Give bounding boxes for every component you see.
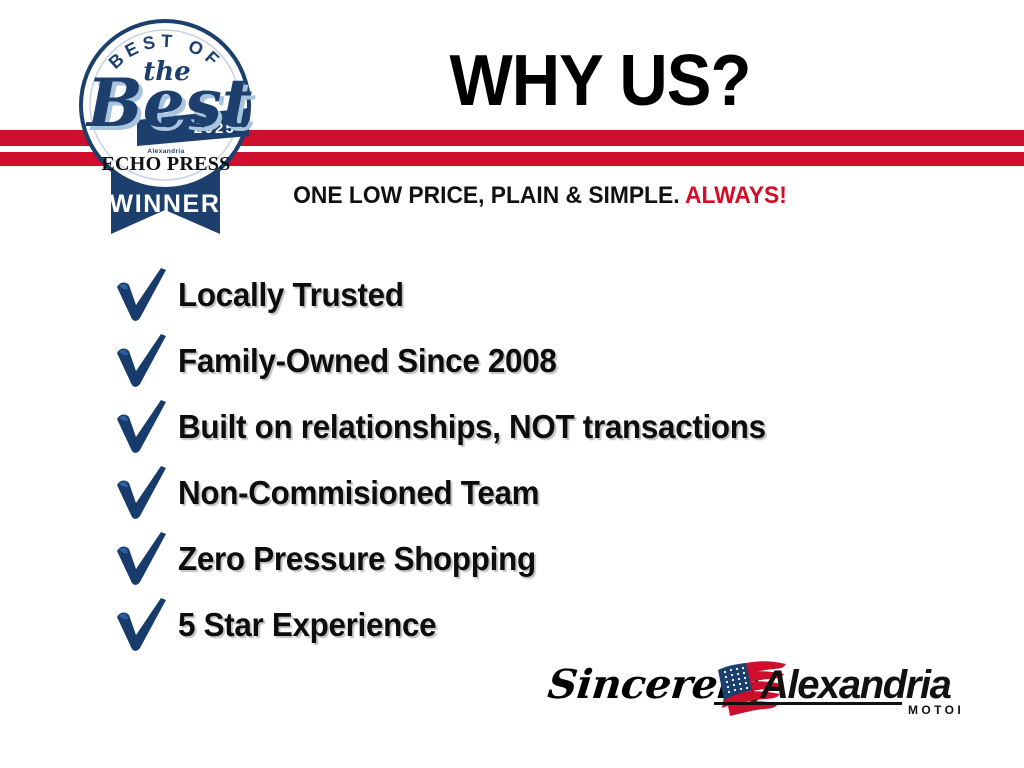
checkmark-icon bbox=[106, 595, 178, 655]
badge-publisher: ECHO PRESS bbox=[101, 153, 230, 175]
subtitle-accent: ALWAYS! bbox=[685, 182, 787, 209]
subtitle-main: ONE LOW PRICE, PLAIN & SIMPLE. bbox=[293, 182, 679, 209]
best-of-the-best-badge: WINNER BEST OF the 2025 Best Best Alexan… bbox=[63, 12, 268, 234]
list-item: Built on relationships, NOT transactions bbox=[106, 394, 1006, 460]
page-title: WHY US? bbox=[302, 44, 897, 118]
svg-text:WINNER: WINNER bbox=[110, 190, 221, 218]
checkmark-icon bbox=[106, 463, 178, 523]
page-subtitle: ONE LOW PRICE, PLAIN & SIMPLE. ALWAYS! bbox=[217, 182, 863, 210]
checkmark-icon bbox=[106, 397, 178, 457]
logo-wordmark: Alexandria bbox=[759, 663, 952, 707]
list-item: Locally Trusted bbox=[106, 262, 1006, 328]
benefits-list: Locally Trusted Family-Owned Since 2008 … bbox=[106, 262, 1006, 658]
checkmark-icon bbox=[106, 331, 178, 391]
list-item: Family-Owned Since 2008 bbox=[106, 328, 1006, 394]
list-item-label: Non-Commisioned Team bbox=[178, 475, 539, 511]
list-item: Zero Pressure Shopping bbox=[106, 526, 1006, 592]
list-item-label: Built on relationships, NOT transactions bbox=[178, 409, 766, 445]
list-item-label: 5 Star Experience bbox=[178, 607, 436, 643]
list-item: 5 Star Experience bbox=[106, 592, 1006, 658]
badge-script-best: Best bbox=[85, 64, 252, 142]
logo-subtext: MOTORS bbox=[908, 703, 960, 717]
list-item: Non-Commisioned Team bbox=[106, 460, 1006, 526]
alexandria-motors-logo: Alexandria MOTORS bbox=[712, 654, 960, 722]
checkmark-icon bbox=[106, 265, 178, 325]
checkmark-icon bbox=[106, 529, 178, 589]
list-item-label: Locally Trusted bbox=[178, 277, 404, 313]
list-item-label: Zero Pressure Shopping bbox=[178, 541, 536, 577]
list-item-label: Family-Owned Since 2008 bbox=[178, 343, 557, 379]
